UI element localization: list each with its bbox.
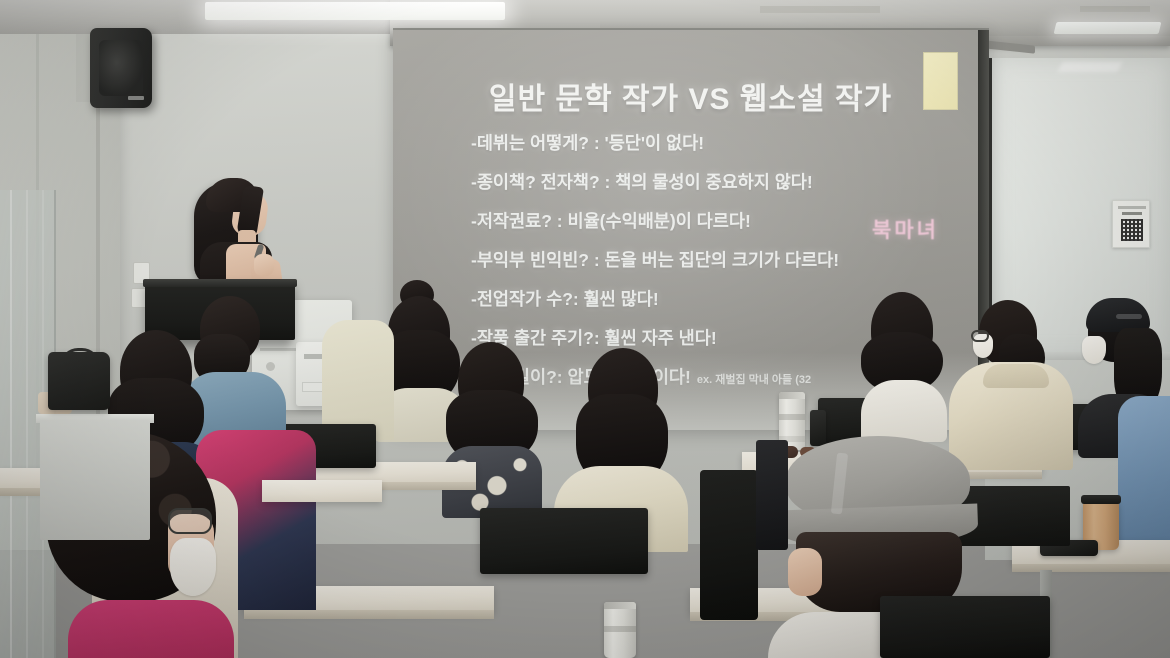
- slide-bullet-2: -종이책? 전자책? : 책의 물성이 중요하지 않다!: [471, 174, 971, 192]
- ceiling-light: [205, 2, 505, 20]
- ceiling-light-2: [1054, 22, 1162, 34]
- desk-right-front-edge: [1012, 564, 1170, 572]
- tumbler-lid: [779, 392, 805, 399]
- chair-back: [480, 508, 648, 574]
- torso-cream: [322, 320, 394, 440]
- torso-pink: [68, 600, 234, 658]
- side-cabinet: [40, 420, 150, 540]
- speaker-badge: [128, 96, 144, 100]
- poster-title-line: [1118, 206, 1146, 209]
- lectern-top: [143, 279, 297, 287]
- desk-left-mid: [262, 480, 382, 502]
- slide-bullet-1: -데뷔는 어떻게? : '등단'이 없다!: [471, 135, 971, 153]
- handwritten-note: 북마녀: [872, 214, 939, 244]
- attendee-center-cream-jacket: [322, 320, 394, 440]
- presenter-hand: [254, 254, 274, 276]
- wall-speaker-icon: [90, 28, 152, 108]
- cap-strap: [1116, 314, 1142, 319]
- attendee-right-white-top: [855, 292, 951, 442]
- ceiling-vent: [760, 6, 880, 13]
- ear: [788, 548, 822, 596]
- chair-back: [880, 596, 1050, 658]
- whiteboard-glare: [1058, 62, 1123, 72]
- eyeglasses: [971, 330, 989, 342]
- ceiling-vent-2: [1080, 6, 1150, 12]
- slide-title: 일반 문학 작가 VS 웹소설 작가: [393, 74, 988, 118]
- desk-center-front-edge: [244, 610, 494, 619]
- backpack: [756, 440, 788, 550]
- torso: [861, 380, 947, 442]
- coffee-cup-lid: [1081, 495, 1121, 504]
- wall-poster-qr: [1112, 200, 1150, 248]
- lecture-room-photo: 일반 문학 작가 VS 웹소설 작가 -데뷔는 어떻게? : '등단'이 없다!…: [0, 0, 1170, 658]
- backpack: [48, 352, 110, 410]
- tumbler-band: [779, 414, 805, 420]
- chair-back: [700, 470, 758, 620]
- tumbler-band: [604, 626, 636, 632]
- attendee-center-patterned-top: [440, 342, 544, 518]
- slide-sticky-note: [923, 52, 958, 110]
- face-mask: [170, 538, 216, 596]
- speaker-cone: [99, 40, 143, 96]
- poster-subtitle-line: [1122, 212, 1142, 215]
- face-mask: [1082, 336, 1106, 364]
- eyeglasses: [168, 508, 212, 534]
- glass-reflection-line: [10, 190, 12, 658]
- tumbler: [604, 602, 636, 658]
- tumbler-lid: [604, 602, 636, 609]
- slide-bullet-4: -부익부 빈익빈? : 돈을 버는 집단의 크기가 다르다!: [471, 252, 971, 270]
- qr-code-icon: [1121, 219, 1143, 241]
- hood: [983, 364, 1049, 388]
